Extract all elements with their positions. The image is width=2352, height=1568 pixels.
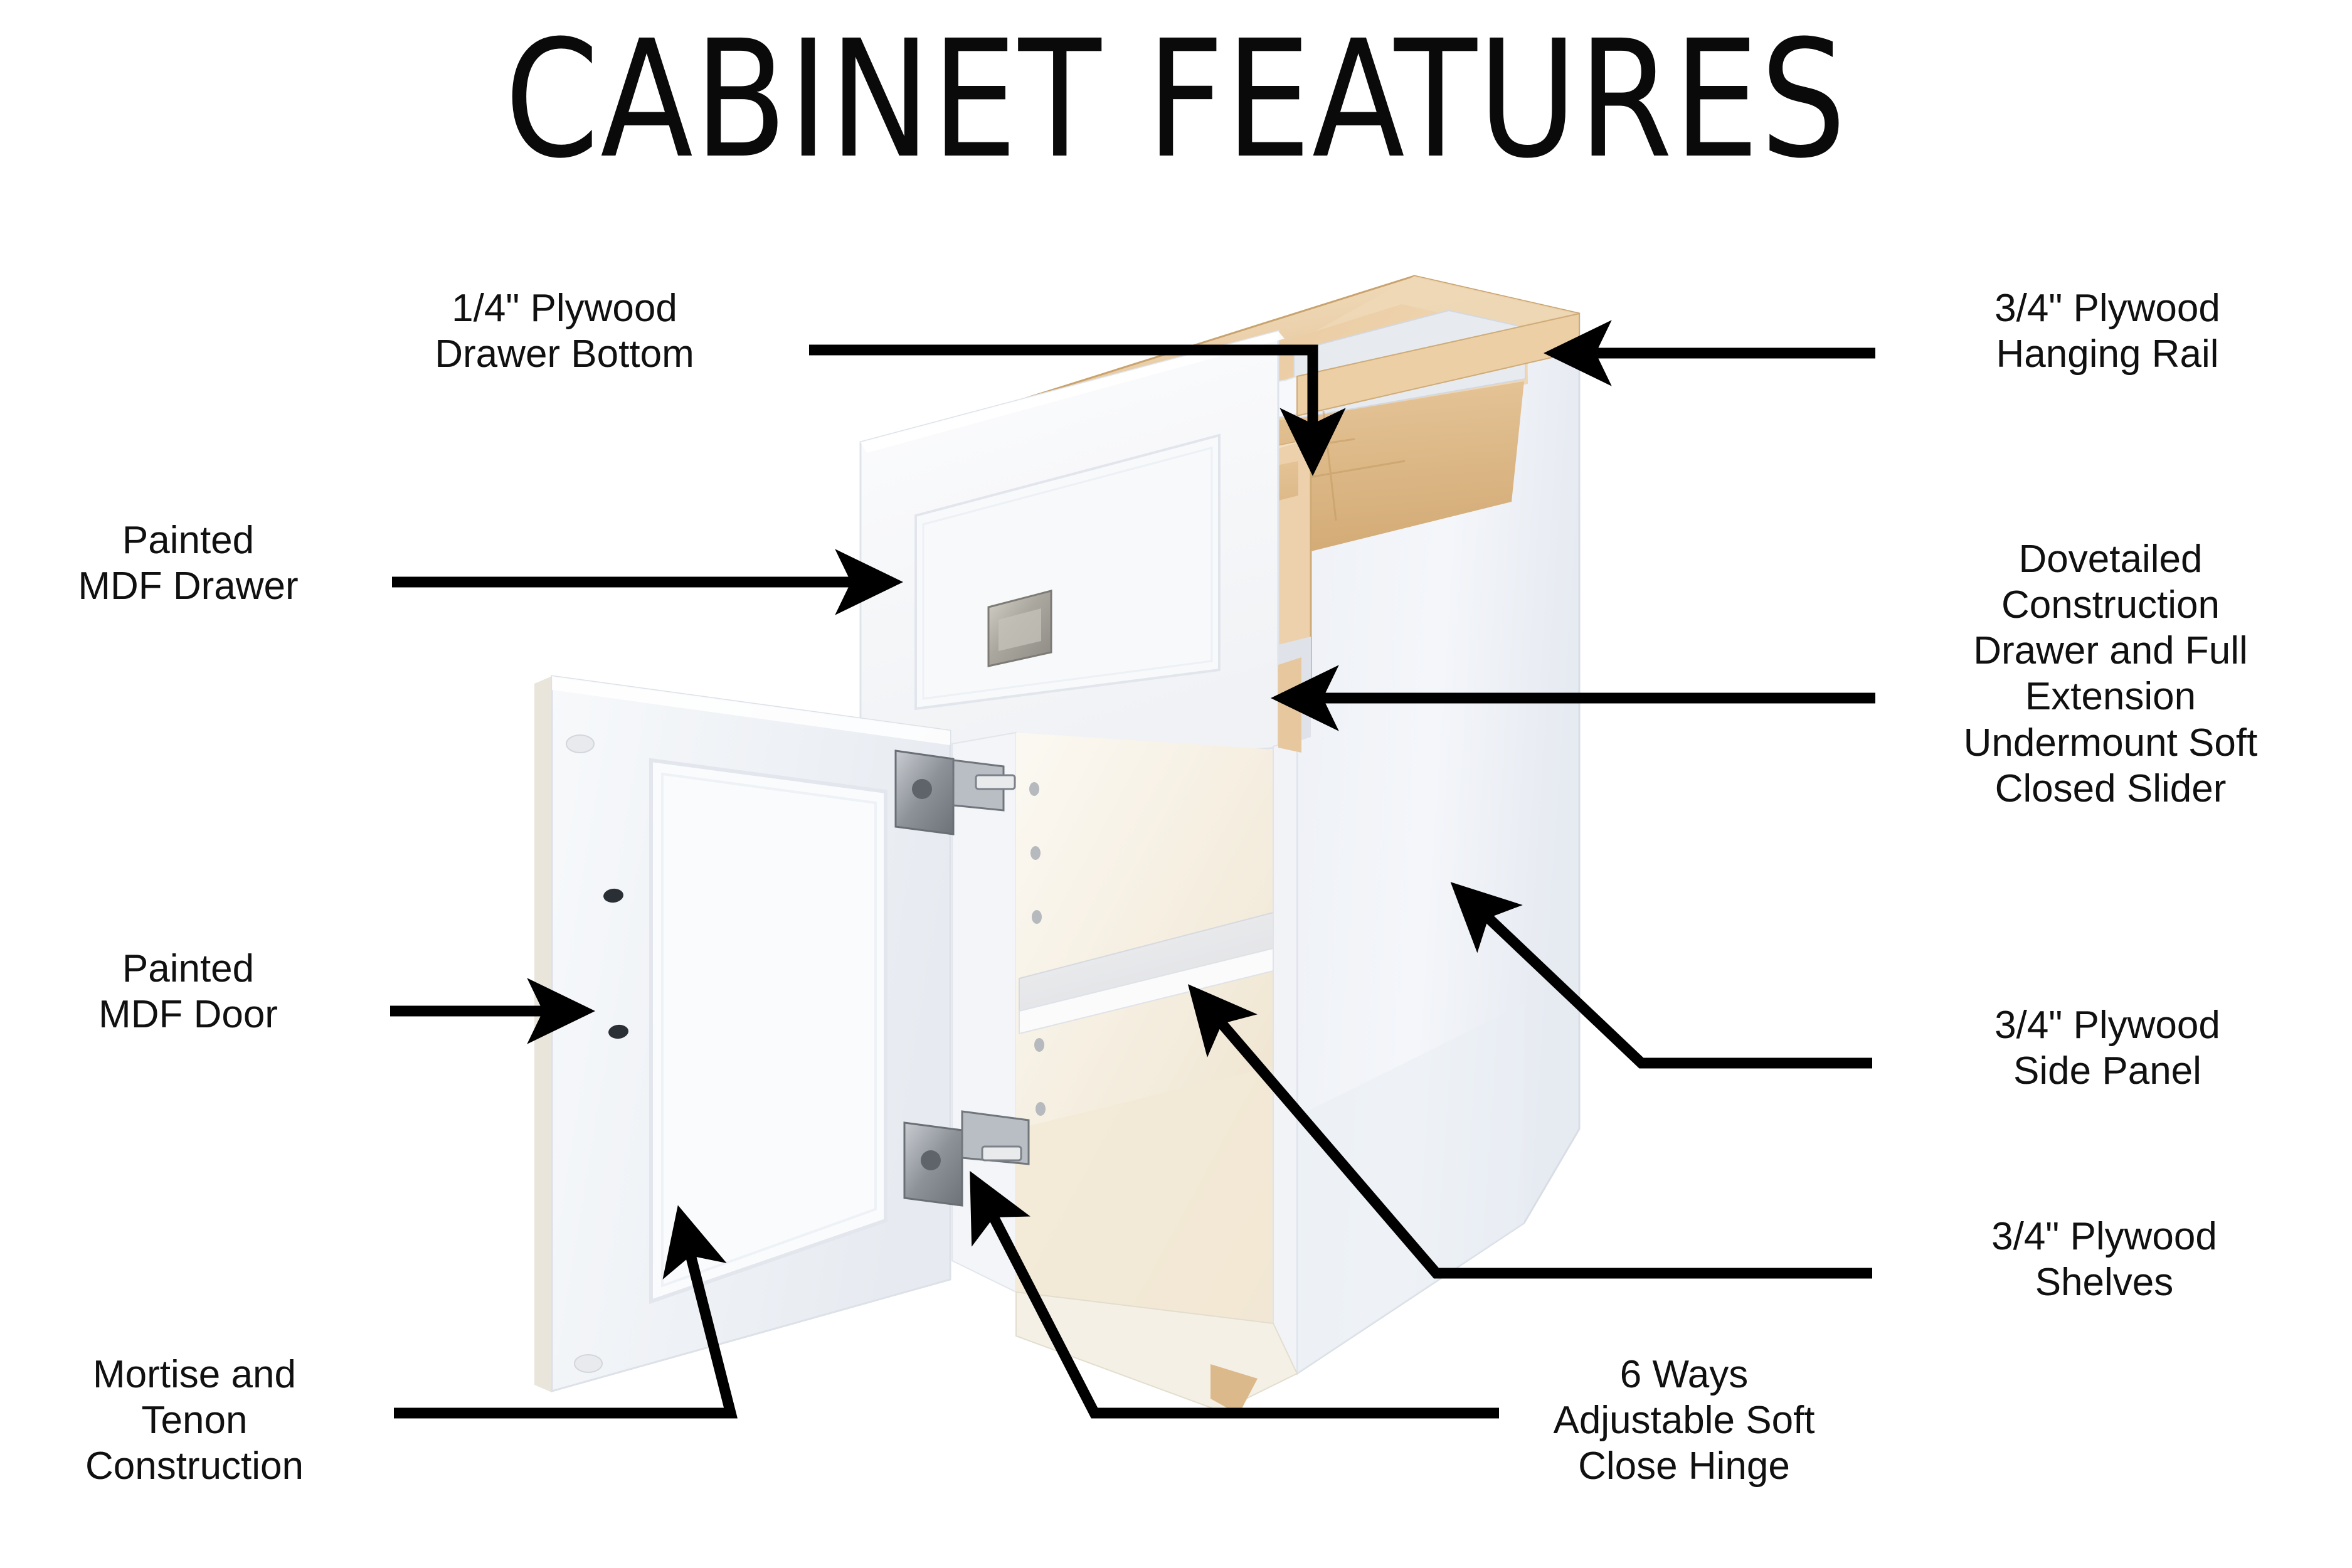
callout-drawer-bottom: 1/4" Plywood Drawer Bottom bbox=[326, 285, 803, 377]
callout-mortise-tenon: Mortise and Tenon Construction bbox=[0, 1352, 414, 1489]
door-edge-band bbox=[534, 676, 552, 1392]
poster-canvas: CABINET FEATURES bbox=[0, 0, 2352, 1568]
door-shaker-panel bbox=[651, 760, 886, 1301]
drawer-slide-plywood-edge bbox=[1278, 657, 1301, 753]
callout-shelves: 3/4" Plywood Shelves bbox=[1885, 1214, 2324, 1305]
cabinet-body bbox=[534, 276, 1579, 1414]
callout-soft-close-hinge: 6 Ways Adjustable Soft Close Hinge bbox=[1474, 1352, 1894, 1489]
cabinet-interior-left-wall bbox=[952, 733, 1016, 1292]
callout-side-panel: 3/4" Plywood Side Panel bbox=[1888, 1002, 2327, 1094]
callout-painted-drawer: Painted MDF Drawer bbox=[0, 517, 401, 609]
callout-hanging-rail: 3/4" Plywood Hanging Rail bbox=[1888, 285, 2327, 377]
carcass-front-right-stile bbox=[1273, 740, 1297, 1374]
callout-painted-door: Painted MDF Door bbox=[0, 946, 401, 1037]
callout-dovetailed: Dovetailed Construction Drawer and Full … bbox=[1882, 536, 2339, 812]
